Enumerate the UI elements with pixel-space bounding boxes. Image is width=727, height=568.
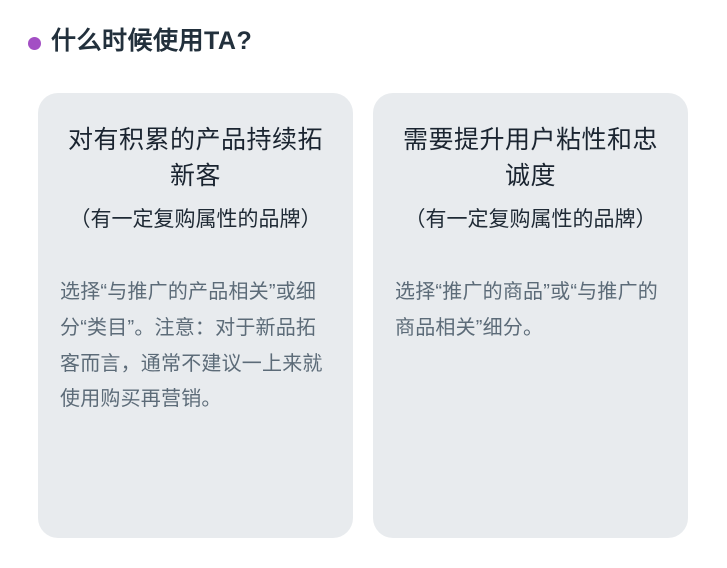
card-body: 选择“推广的商品”或“与推广的商品相关”细分。 (391, 275, 670, 346)
card-body-text: 选择“推广的商品”或“与推广的商品相关”细分。 (395, 275, 666, 346)
info-card-right: 需要提升用户粘性和忠诚度 （有一定复购属性的品牌） 选择“推广的商品”或“与推广… (373, 93, 688, 538)
card-title: 需要提升用户粘性和忠诚度 (391, 123, 670, 194)
info-card-left: 对有积累的产品持续拓新客 （有一定复购属性的品牌） 选择“与推广的产品相关”或细… (38, 93, 353, 538)
card-title: 对有积累的产品持续拓新客 (56, 123, 335, 194)
card-subtitle: （有一定复购属性的品牌） (56, 205, 335, 235)
bullet-dot-icon (28, 37, 41, 50)
card-body-text: 选择“与推广的产品相关”或细分“类目”。注意：对于新品拓客而言，通常不建议一上来… (60, 275, 331, 417)
page-title: 什么时候使用TA? (51, 28, 252, 56)
card-subtitle: （有一定复购属性的品牌） (391, 205, 670, 235)
card-body: 选择“与推广的产品相关”或细分“类目”。注意：对于新品拓客而言，通常不建议一上来… (56, 275, 335, 417)
page-heading: 什么时候使用TA? (28, 22, 252, 62)
cards-row: 对有积累的产品持续拓新客 （有一定复购属性的品牌） 选择“与推广的产品相关”或细… (38, 93, 688, 538)
